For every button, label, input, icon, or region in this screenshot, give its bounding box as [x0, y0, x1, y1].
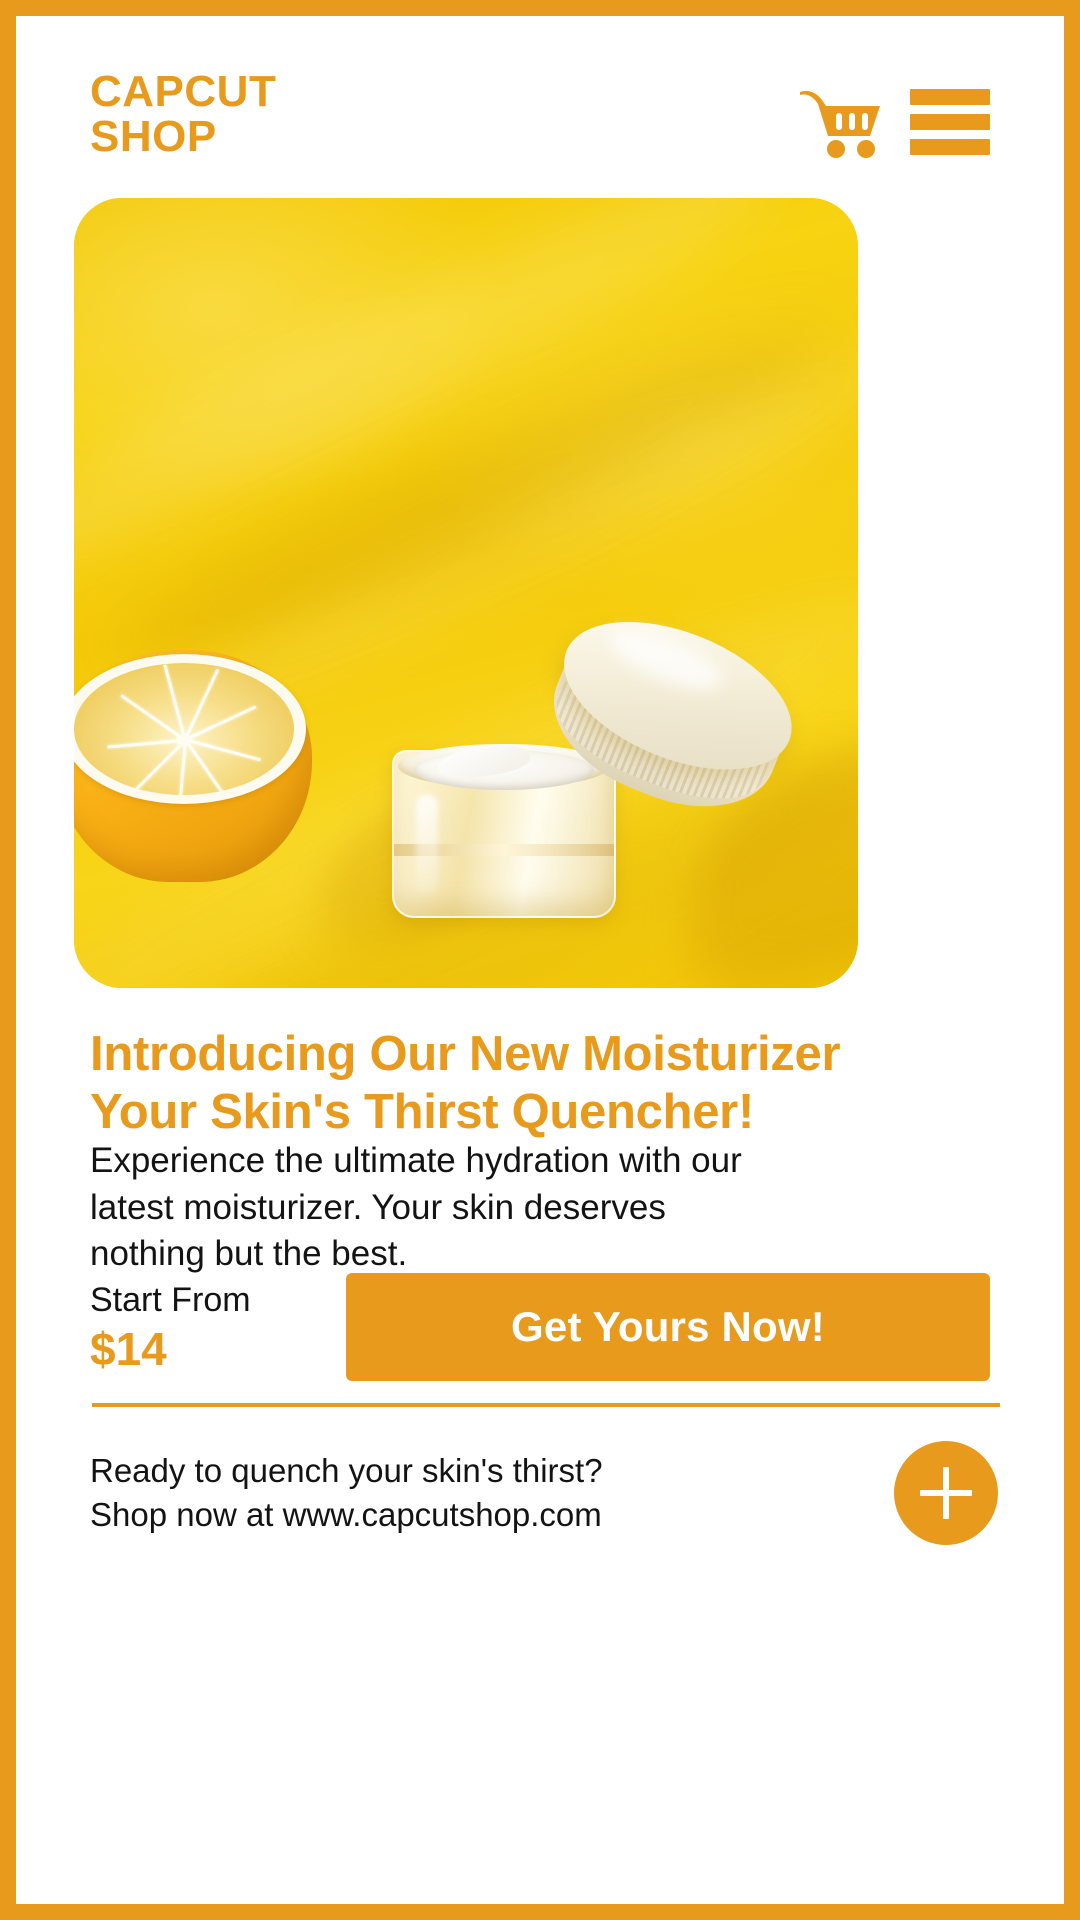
lemon-half — [74, 650, 312, 882]
footer-divider — [92, 1403, 1000, 1407]
lemon-core — [176, 734, 192, 746]
lemon-flesh — [74, 663, 294, 795]
price-value: $14 — [90, 1326, 290, 1372]
get-yours-now-button[interactable]: Get Yours Now! — [346, 1273, 990, 1381]
footer-text: Ready to quench your skin's thirst? Shop… — [90, 1449, 603, 1536]
shopping-cart-icon — [798, 86, 882, 158]
page-title: Introducing Our New Moisturizer Your Ski… — [90, 1026, 970, 1142]
price-block: Start From $14 — [90, 1282, 290, 1371]
menu-bar-top — [910, 89, 990, 105]
price-label: Start From — [90, 1282, 290, 1319]
hamburger-menu-button[interactable] — [910, 89, 990, 155]
brand-logo: CAPCUT SHOP — [90, 70, 276, 160]
menu-bar-bottom — [910, 139, 990, 155]
add-plus-button[interactable] — [894, 1441, 998, 1545]
cart-button[interactable] — [798, 86, 882, 158]
page-header: CAPCUT SHOP — [90, 70, 990, 180]
jar-highlight — [416, 794, 438, 894]
body-description: Experience the ultimate hydration with o… — [90, 1138, 790, 1278]
header-icon-group — [798, 86, 990, 158]
hero-product-image — [74, 198, 858, 988]
page-footer: Ready to quench your skin's thirst? Shop… — [90, 1428, 998, 1558]
promo-page: CAPCUT SHOP — [0, 0, 1080, 1920]
menu-bar-middle — [910, 114, 990, 130]
offer-row: Start From $14 Get Yours Now! — [90, 1271, 990, 1383]
